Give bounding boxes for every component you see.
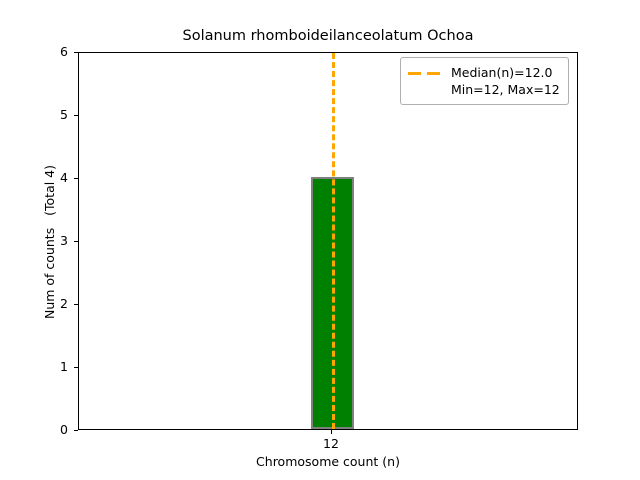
- legend-label-minmax: Min=12, Max=12: [451, 81, 560, 98]
- x-axis-label: Chromosome count (n): [78, 455, 578, 469]
- plot-area: [78, 52, 578, 430]
- median-line: [332, 53, 335, 429]
- legend-dashed-line-icon: [408, 65, 444, 81]
- x-tick-label-12: 12: [301, 437, 361, 451]
- y-tick-mark-0: [74, 430, 78, 431]
- y-axis-label: Num of counts (Total 4): [43, 42, 57, 442]
- chart-title: Solanum rhomboideilanceolatum Ochoa: [78, 28, 578, 45]
- legend-label-median: Median(n)=12.0: [451, 64, 560, 81]
- chart-legend: Median(n)=12.0 Min=12, Max=12: [400, 57, 569, 105]
- x-tick-mark-12: [331, 430, 332, 434]
- legend-text: Median(n)=12.0 Min=12, Max=12: [451, 64, 560, 98]
- chart-figure: Solanum rhomboideilanceolatum Ochoa 6 5 …: [0, 0, 640, 480]
